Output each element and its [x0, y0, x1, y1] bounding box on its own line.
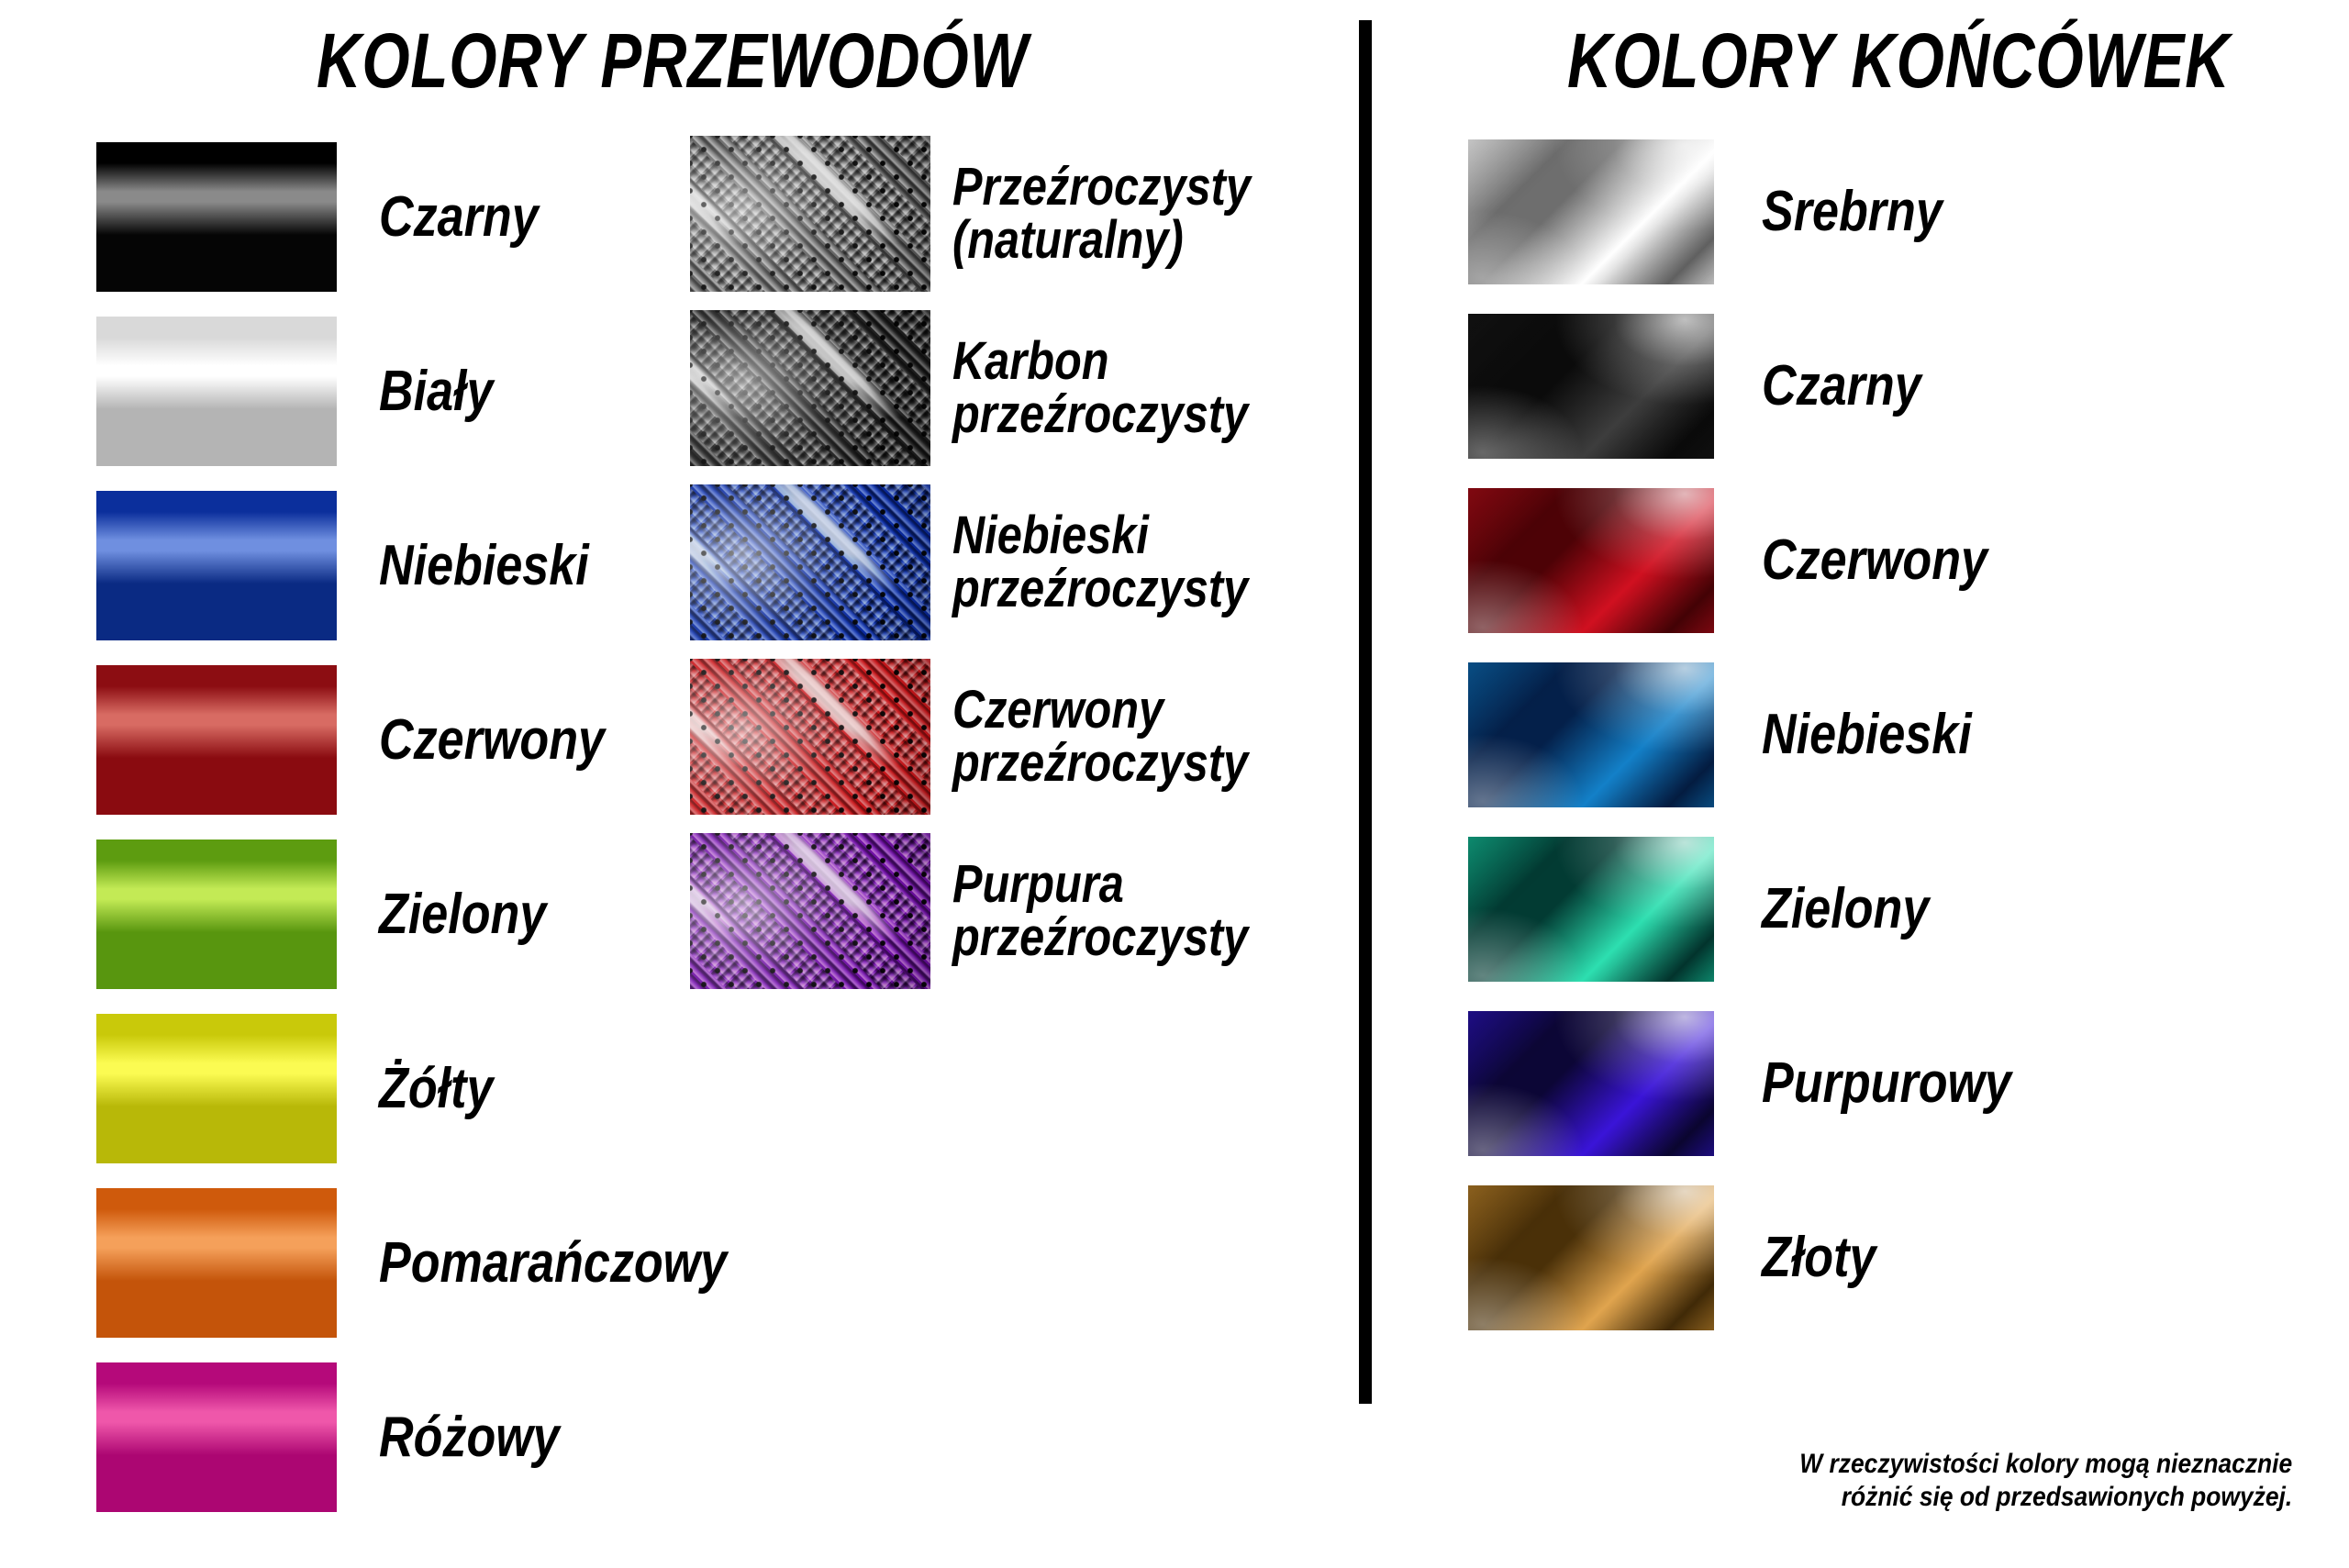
connector-color-label: Purpurowy: [1762, 1055, 2011, 1112]
wire-sleeved-color-swatch[interactable]: [690, 833, 930, 989]
wire-solid-color-row[interactable]: Biały: [96, 317, 515, 466]
wire-solid-color-swatch[interactable]: [96, 491, 337, 640]
connector-color-row[interactable]: Zielony: [1468, 837, 1961, 982]
metallic-sheen: [1468, 1185, 1714, 1330]
page-title-connector-colors: KOLORY KOŃCÓWEK: [1567, 17, 2231, 106]
connector-color-row[interactable]: Czarny: [1468, 314, 1952, 459]
wire-sleeved-color-row[interactable]: Karbon przeźroczysty: [690, 310, 1305, 466]
wire-solid-color-row[interactable]: Czerwony: [96, 665, 648, 815]
wire-sleeved-color-row[interactable]: Niebieski przeźroczysty: [690, 484, 1305, 640]
wire-solid-color-label: Biały: [379, 363, 493, 420]
wire-sleeved-color-row[interactable]: Purpura przeźroczysty: [690, 833, 1305, 989]
metallic-sheen: [1468, 139, 1714, 284]
wire-solid-color-swatch[interactable]: [96, 1014, 337, 1163]
wire-solid-color-row[interactable]: Zielony: [96, 840, 578, 989]
wire-solid-color-row[interactable]: Niebieski: [96, 491, 629, 640]
connector-color-swatch[interactable]: [1468, 314, 1714, 459]
connector-color-label: Zielony: [1762, 881, 1929, 938]
page-title-wire-colors: KOLORY PRZEWODÓW: [317, 17, 1029, 106]
wire-solid-color-label: Niebieski: [379, 538, 589, 595]
wire-sleeved-color-label: Niebieski przeźroczysty: [952, 509, 1248, 616]
wire-sleeved-color-label: Purpura przeźroczysty: [952, 858, 1248, 964]
braid-texture: [690, 659, 930, 815]
wire-solid-color-swatch[interactable]: [96, 142, 337, 292]
connector-color-row[interactable]: Niebieski: [1468, 662, 2011, 807]
wire-solid-color-label: Pomarańczowy: [379, 1235, 727, 1292]
metallic-sheen: [1468, 662, 1714, 807]
connector-color-swatch[interactable]: [1468, 139, 1714, 284]
wire-sleeved-color-swatch[interactable]: [690, 484, 930, 640]
wire-solid-color-label: Zielony: [379, 886, 546, 943]
section-divider: [1359, 20, 1372, 1404]
wire-sleeved-color-swatch[interactable]: [690, 659, 930, 815]
connector-color-swatch[interactable]: [1468, 1011, 1714, 1156]
braid-texture: [690, 484, 930, 640]
connector-color-row[interactable]: Czerwony: [1468, 488, 2031, 633]
wire-sleeved-color-row[interactable]: Czerwony przeźroczysty: [690, 659, 1305, 815]
connector-color-label: Czerwony: [1762, 532, 1987, 589]
connector-color-label: Czarny: [1762, 358, 1921, 415]
wire-sleeved-color-swatch[interactable]: [690, 310, 930, 466]
wire-solid-color-swatch[interactable]: [96, 665, 337, 815]
wire-solid-color-swatch[interactable]: [96, 840, 337, 989]
connector-color-row[interactable]: Srebrny: [1468, 139, 1976, 284]
connector-color-swatch[interactable]: [1468, 1185, 1714, 1330]
connector-color-swatch[interactable]: [1468, 837, 1714, 982]
metallic-sheen: [1468, 837, 1714, 982]
metallic-sheen: [1468, 488, 1714, 633]
connector-color-label: Złoty: [1762, 1229, 1876, 1286]
wire-sleeved-color-label: Karbon przeźroczysty: [952, 335, 1248, 441]
wire-sleeved-color-swatch[interactable]: [690, 136, 930, 292]
connector-color-row[interactable]: Purpurowy: [1468, 1011, 2059, 1156]
wire-solid-color-swatch[interactable]: [96, 1362, 337, 1512]
wire-sleeved-color-label: Czerwony przeźroczysty: [952, 684, 1248, 790]
wire-solid-color-row[interactable]: Żółty: [96, 1014, 515, 1163]
wire-solid-color-row[interactable]: Czarny: [96, 142, 569, 292]
wire-solid-color-swatch[interactable]: [96, 317, 337, 466]
connector-color-swatch[interactable]: [1468, 662, 1714, 807]
braid-texture: [690, 833, 930, 989]
wire-solid-color-label: Czerwony: [379, 712, 605, 769]
braid-texture: [690, 310, 930, 466]
connector-color-swatch[interactable]: [1468, 488, 1714, 633]
wire-solid-color-row[interactable]: Różowy: [96, 1362, 594, 1512]
connector-color-row[interactable]: Złoty: [1468, 1185, 1898, 1330]
connector-color-label: Srebrny: [1762, 183, 1943, 240]
wire-solid-color-row[interactable]: Pomarańczowy: [96, 1188, 793, 1338]
wire-solid-color-label: Różowy: [379, 1409, 560, 1466]
wire-sleeved-color-row[interactable]: Przeźroczysty (naturalny): [690, 136, 1308, 292]
connector-color-label: Niebieski: [1762, 706, 1972, 763]
wire-solid-color-label: Czarny: [379, 189, 539, 246]
braid-texture: [690, 136, 930, 292]
wire-solid-color-label: Żółty: [379, 1061, 493, 1118]
metallic-sheen: [1468, 1011, 1714, 1156]
disclaimer-note: W rzeczywistości kolory mogą nieznacznie…: [1799, 1448, 2292, 1515]
metallic-sheen: [1468, 314, 1714, 459]
wire-sleeved-color-label: Przeźroczysty (naturalny): [952, 161, 1251, 267]
wire-solid-color-swatch[interactable]: [96, 1188, 337, 1338]
